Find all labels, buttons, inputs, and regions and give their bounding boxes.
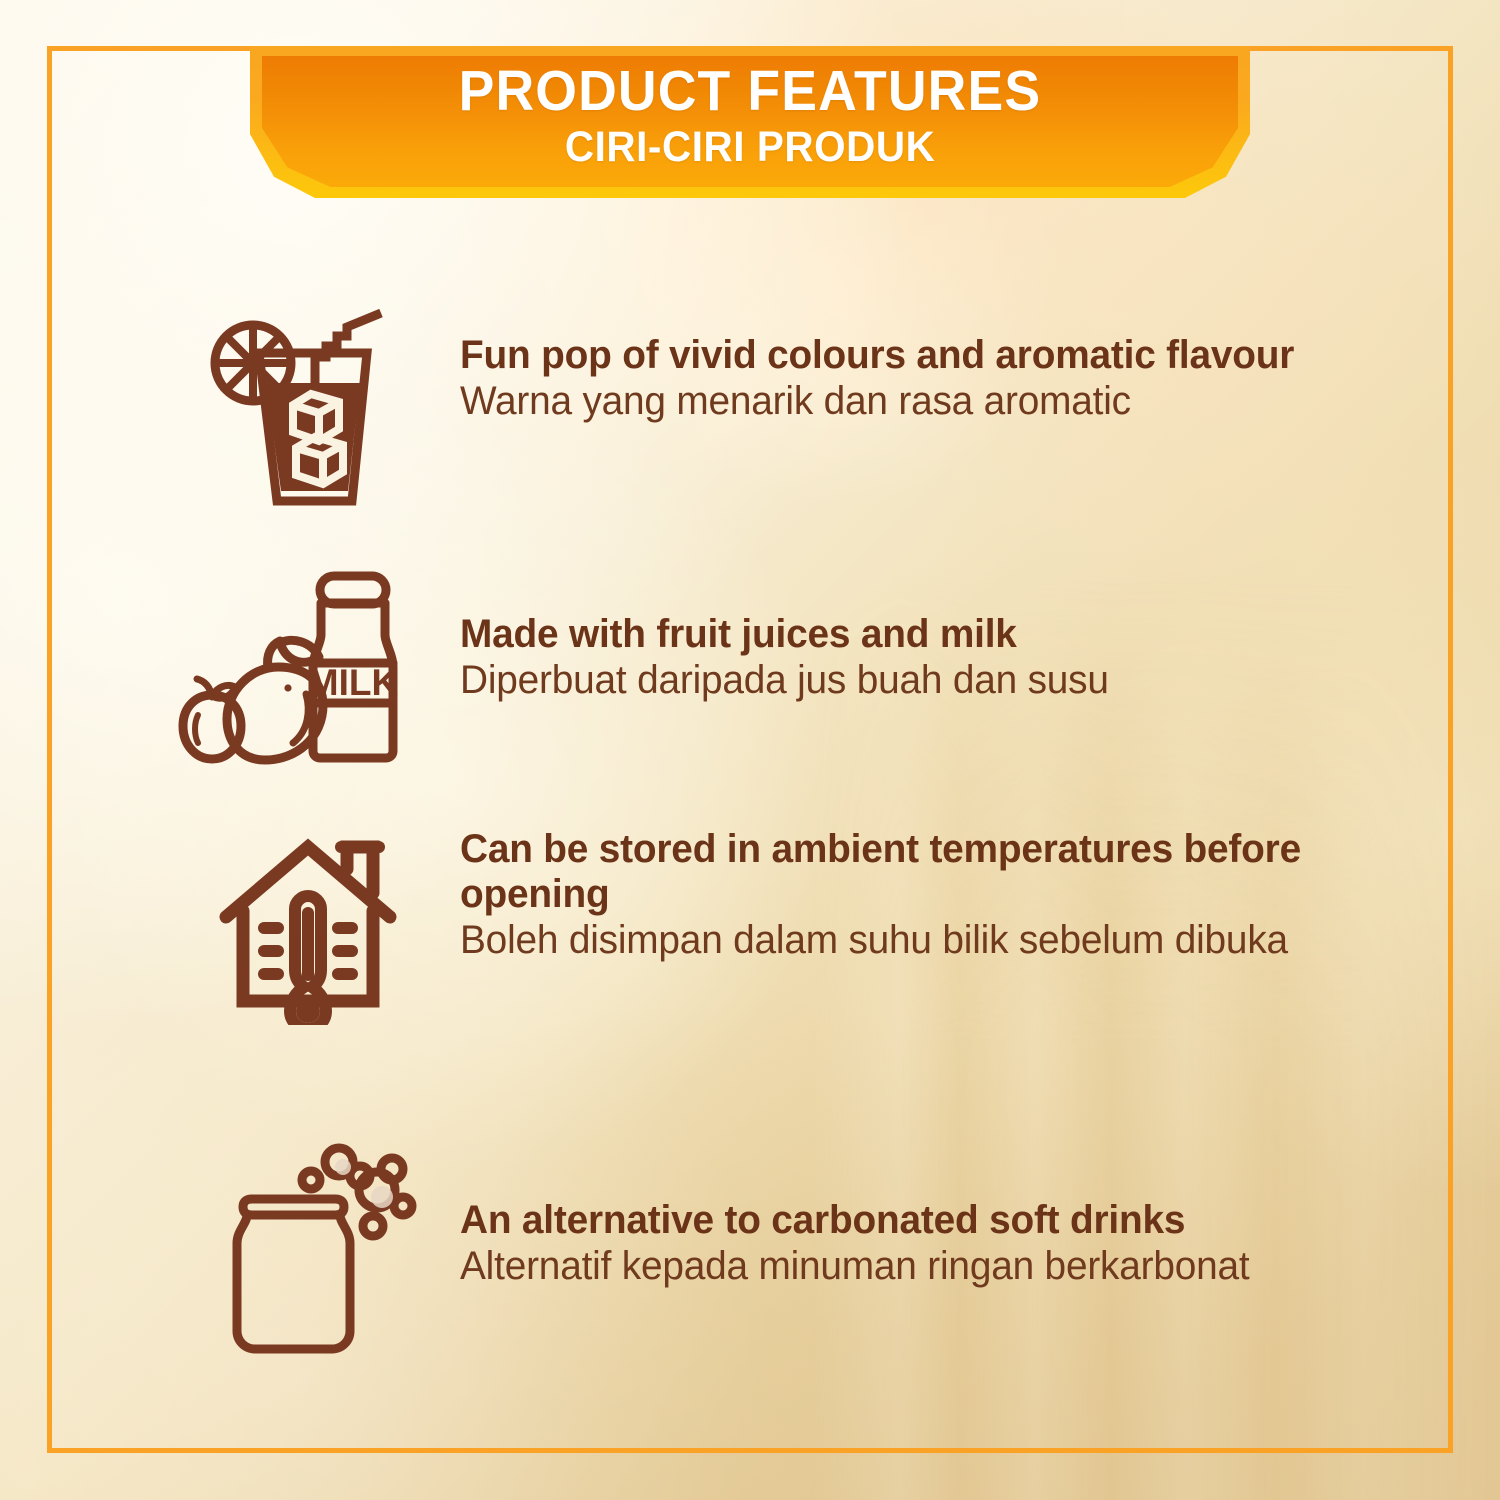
feature-subtext: Diperbuat daripada jus buah dan susu bbox=[460, 657, 1333, 703]
feature-headline: An alternative to carbonated soft drinks bbox=[460, 1198, 1333, 1243]
product-features-poster: PRODUCT FEATURES CIRI-CIRI PRODUK bbox=[0, 0, 1500, 1500]
feature-text-1: Fun pop of vivid colours and aromatic fl… bbox=[460, 333, 1360, 424]
feature-text-3: Can be stored in ambient temperatures be… bbox=[460, 827, 1360, 963]
feature-subtext: Boleh disimpan dalam suhu bilik sebelum … bbox=[460, 917, 1333, 963]
feature-headline: Can be stored in ambient temperatures be… bbox=[460, 827, 1333, 917]
house-with-thermometer-icon bbox=[208, 825, 408, 1030]
page-subtitle: CIRI-CIRI PRODUK bbox=[565, 124, 936, 171]
header-banner: PRODUCT FEATURES CIRI-CIRI PRODUK bbox=[250, 46, 1250, 198]
feature-text-2: Made with fruit juices and milk Diperbua… bbox=[460, 612, 1360, 703]
feature-headline: Fun pop of vivid colours and aromatic fl… bbox=[460, 333, 1333, 378]
milk-bottle-with-fruits-icon: MILK bbox=[165, 563, 415, 783]
feature-headline: Made with fruit juices and milk bbox=[460, 612, 1333, 657]
page-title: PRODUCT FEATURES bbox=[459, 62, 1042, 120]
soda-can-with-bubbles-icon bbox=[225, 1143, 430, 1368]
banner-text-group: PRODUCT FEATURES CIRI-CIRI PRODUK bbox=[250, 46, 1250, 198]
feature-item-3: Can be stored in ambient temperatures be… bbox=[150, 815, 1360, 1065]
feature-item-4: An alternative to carbonated soft drinks… bbox=[150, 1135, 1360, 1385]
feature-text-4: An alternative to carbonated soft drinks… bbox=[460, 1198, 1360, 1289]
feature-subtext: Alternatif kepada minuman ringan berkarb… bbox=[460, 1243, 1333, 1289]
drink-glass-with-straw-and-ice-icon bbox=[195, 305, 405, 515]
feature-item-2: MILK Made with fruit juic bbox=[150, 555, 1360, 785]
feature-subtext: Warna yang menarik dan rasa aromatic bbox=[460, 378, 1333, 424]
feature-item-1: Fun pop of vivid colours and aromatic fl… bbox=[150, 295, 1360, 525]
